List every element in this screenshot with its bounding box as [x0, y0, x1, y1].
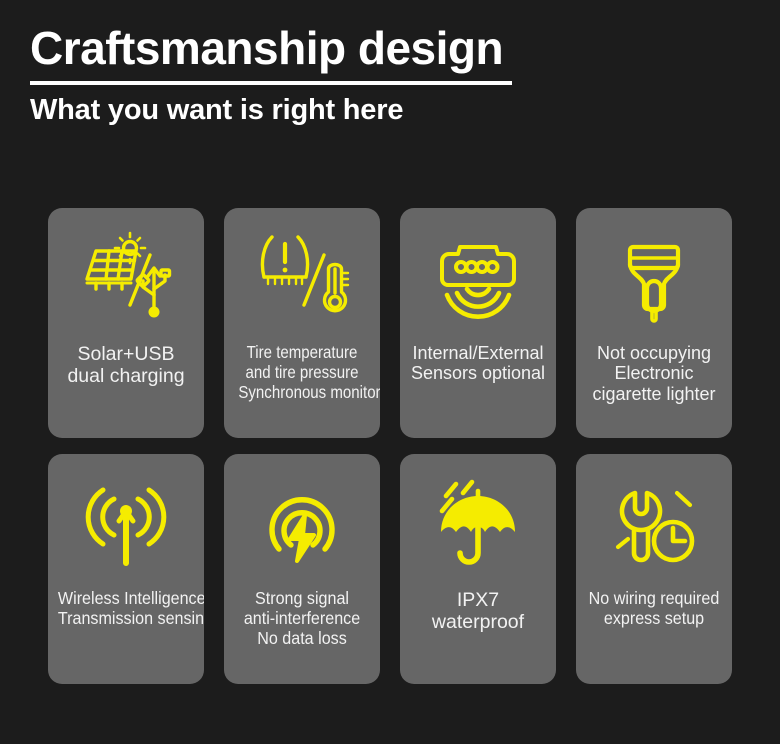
caption-line: No wiring required	[586, 589, 722, 609]
page-title: Craftsmanship design	[30, 24, 730, 72]
tire-pressure-temperature-icon	[224, 208, 380, 343]
wrench-clock-icon	[576, 454, 732, 589]
page-subtitle: What you want is right here	[30, 94, 730, 127]
feature-caption: IPX7 waterproof	[400, 589, 556, 633]
caption-line: cigarette lighter	[580, 384, 728, 404]
caption-line: Internal/External	[404, 343, 552, 363]
signal-lightning-icon	[224, 454, 380, 589]
car-charger-icon	[576, 208, 732, 343]
caption-line: express setup	[586, 609, 722, 629]
caption-line: dual charging	[52, 365, 200, 387]
caption-line: Wireless Intelligence	[58, 589, 194, 609]
caption-line: Tire temperature	[238, 343, 365, 363]
feature-caption: Solar+USB dual charging	[48, 343, 204, 387]
caption-line: anti-interference	[234, 609, 370, 629]
caption-line: Synchronous monitoring	[238, 383, 365, 403]
feature-caption: No wiring required express setup	[576, 589, 732, 629]
feature-caption: Not occupying Electronic cigarette light…	[576, 343, 732, 404]
caption-line: Not occupying	[580, 343, 728, 363]
feature-card-grid: Solar+USB dual charging	[48, 208, 732, 684]
feature-card-wireless[interactable]: Wireless Intelligence Transmission sensi…	[48, 454, 204, 684]
feature-card-tire-monitoring[interactable]: Tire temperature and tire pressure Synch…	[224, 208, 380, 438]
feature-card-no-lighter[interactable]: Not occupying Electronic cigarette light…	[576, 208, 732, 438]
feature-caption: Strong signal anti-interference No data …	[224, 589, 380, 648]
caption-line: Electronic	[580, 363, 728, 383]
caption-line: Transmission sensing	[58, 609, 194, 629]
feature-caption: Internal/External Sensors optional	[400, 343, 556, 384]
feature-caption: Wireless Intelligence Transmission sensi…	[48, 589, 204, 629]
title-underline	[30, 81, 512, 85]
caption-line: Strong signal	[234, 589, 370, 609]
caption-line: Sensors optional	[404, 363, 552, 383]
feature-card-waterproof[interactable]: IPX7 waterproof	[400, 454, 556, 684]
header: Craftsmanship design What you want is ri…	[30, 24, 730, 127]
feature-card-no-wiring[interactable]: No wiring required express setup	[576, 454, 732, 684]
umbrella-rain-icon	[400, 454, 556, 589]
feature-card-solar-usb[interactable]: Solar+USB dual charging	[48, 208, 204, 438]
caption-line: IPX7	[404, 589, 552, 611]
feature-caption: Tire temperature and tire pressure Synch…	[224, 343, 380, 402]
caption-line: and tire pressure	[238, 363, 365, 383]
caption-line: waterproof	[404, 611, 552, 633]
solar-usb-icon	[48, 208, 204, 343]
sensor-signal-icon	[400, 208, 556, 343]
feature-card-sensors[interactable]: Internal/External Sensors optional	[400, 208, 556, 438]
feature-grid-page: Craftsmanship design What you want is ri…	[0, 0, 780, 744]
caption-line: No data loss	[234, 629, 370, 649]
antenna-broadcast-icon	[48, 454, 204, 589]
caption-line: Solar+USB	[52, 343, 200, 365]
feature-card-strong-signal[interactable]: Strong signal anti-interference No data …	[224, 454, 380, 684]
